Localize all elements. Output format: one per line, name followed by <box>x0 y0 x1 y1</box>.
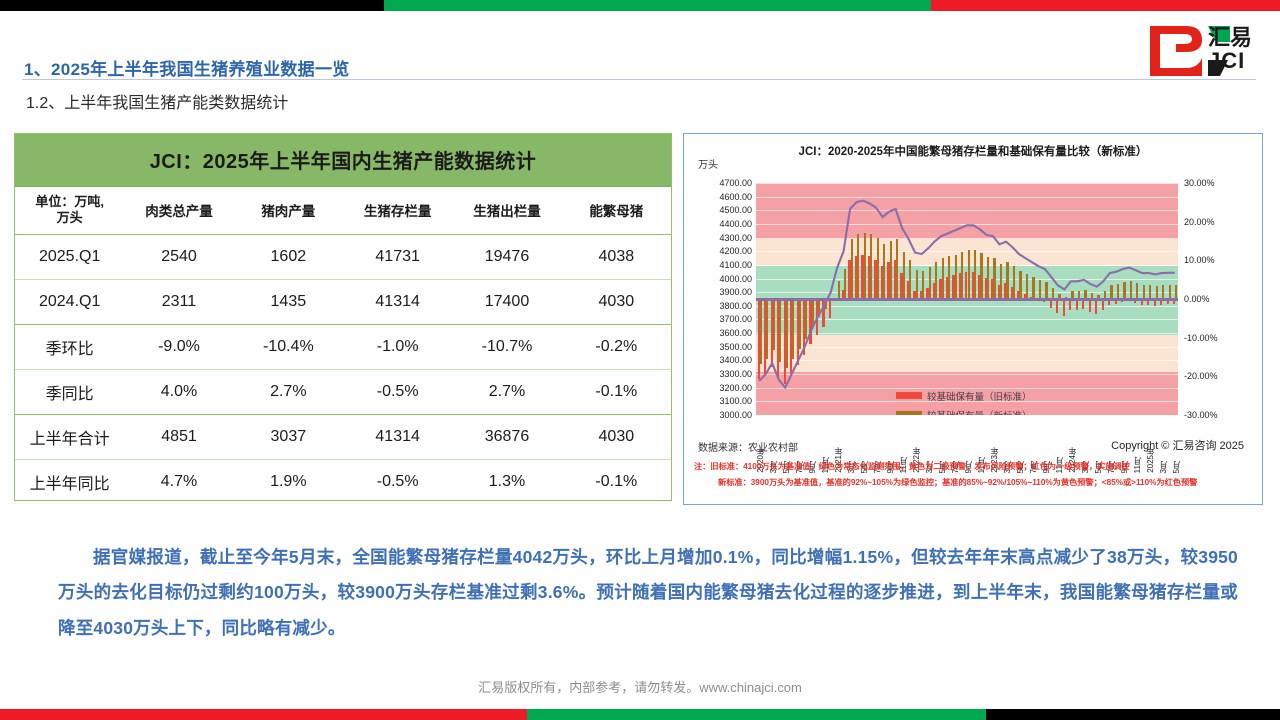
sow-inventory-chart-panel: JCI：2020-2025年中国能繁母猪存栏量和基础保有量比较（新标准） 万头 … <box>683 133 1263 505</box>
cell: 4.7% <box>124 459 233 504</box>
y-axis-tick: 4400.00 <box>719 219 752 229</box>
secondary-y-axis-tick: -30.00% <box>1184 410 1218 420</box>
table-row: 季环比 -9.0% -10.4% -1.0% -10.7% -0.2% <box>15 324 671 369</box>
top-decor-bar <box>0 0 1280 11</box>
table-header-unit: 单位：万吨, 万头 <box>15 186 124 234</box>
cell: 17400 <box>452 279 561 324</box>
y-axis-tick: 3300.00 <box>719 369 752 379</box>
cell: 1435 <box>234 279 343 324</box>
x-axis-tick: 3月 <box>1158 461 1169 473</box>
table-row: 上半年合计 4851 3037 41314 36876 4030 <box>15 414 671 459</box>
decor-segment-green <box>384 0 931 11</box>
row-label: 季环比 <box>15 324 124 369</box>
cell: 41314 <box>343 279 452 324</box>
y-axis-unit-label: 万头 <box>698 156 718 171</box>
cell: 2.7% <box>452 369 561 414</box>
cell: 1.3% <box>452 459 561 504</box>
legend-swatch-icon <box>896 392 922 399</box>
y-axis-tick: 4300.00 <box>719 233 752 243</box>
y-axis-tick: 3400.00 <box>719 355 752 365</box>
table-header-col-4: 生猪出栏量 <box>452 186 561 234</box>
cell: -0.2% <box>562 324 671 369</box>
secondary-y-axis-tick: 30.00% <box>1184 178 1215 188</box>
footer-copyright: 汇易版权所有，内部参考，请勿转发。www.chinajci.com <box>0 677 1280 696</box>
row-label: 季同比 <box>15 369 124 414</box>
cell: -0.5% <box>343 459 452 504</box>
unit-line-1: 单位：万吨, <box>35 194 104 209</box>
cell: 4.0% <box>124 369 233 414</box>
cell: -0.1% <box>562 369 671 414</box>
cell: 41731 <box>343 234 452 279</box>
decor-segment-red <box>0 709 527 720</box>
cell: -10.4% <box>234 324 343 369</box>
cell: 3037 <box>234 414 343 459</box>
y-axis-tick: 3900.00 <box>719 287 752 297</box>
y-axis-tick: 4100.00 <box>719 260 752 270</box>
table-header-col-5: 能繁母猪 <box>562 186 671 234</box>
cell: 2540 <box>124 234 233 279</box>
unit-line-2: 万头 <box>57 210 83 225</box>
baseline-marker <box>756 298 1178 301</box>
table-row: 上半年同比 4.7% 1.9% -0.5% 1.3% -0.1% <box>15 459 671 504</box>
cell: -0.5% <box>343 369 452 414</box>
table-header-col-1: 肉类总产量 <box>124 186 233 234</box>
chart-note-line-2: 新标准：3900万头为基准值，基准的92%~105%为绿色监控；基准的85%~9… <box>718 476 1197 488</box>
table-title-row: JCI：2025年上半年国内生猪产能数据统计 <box>15 134 671 186</box>
table-row: 2025.Q1 2540 1602 41731 19476 4038 <box>15 234 671 279</box>
table-header-row: 单位：万吨, 万头 肉类总产量 猪肉产量 生猪存栏量 生猪出栏量 能繁母猪 <box>15 186 671 234</box>
table-row: 季同比 4.0% 2.7% -0.5% 2.7% -0.1% <box>15 369 671 414</box>
y-axis-tick: 3000.00 <box>719 410 752 420</box>
cell: 4030 <box>562 279 671 324</box>
jci-logo: 汇易 JCI <box>1146 22 1266 80</box>
legend-swatch-icon <box>896 411 922 415</box>
y-axis-tick: 3600.00 <box>719 328 752 338</box>
table-row: 2024.Q1 2311 1435 41314 17400 4030 <box>15 279 671 324</box>
cell: 36876 <box>452 414 561 459</box>
secondary-y-axis-tick: -10.00% <box>1184 333 1218 343</box>
cell: -9.0% <box>124 324 233 369</box>
capacity-data-table: JCI：2025年上半年国内生猪产能数据统计 单位：万吨, 万头 肉类总产量 猪… <box>14 133 672 501</box>
chart-note-line-1: 注：旧标准：4100万头为基准值，绿色为常态化监测范围；黄色为二级预警，发布风险… <box>694 460 1130 472</box>
legend-item-old-standard: 较基础保有量（旧标准） <box>896 386 1081 405</box>
title-divider <box>22 79 1256 80</box>
cell: 4851 <box>124 414 233 459</box>
chart-source: 数据来源：农业农村部 <box>698 439 798 454</box>
table-header-col-3: 生猪存栏量 <box>343 186 452 234</box>
cell: 4030 <box>562 414 671 459</box>
secondary-y-axis-tick: 20.00% <box>1184 217 1215 227</box>
row-label: 上半年合计 <box>15 414 124 459</box>
chart-copyright: Copyright © 汇易咨询 2025 <box>1111 437 1244 453</box>
table-header-col-2: 猪肉产量 <box>234 186 343 234</box>
decor-segment-black <box>0 0 384 11</box>
legend-label: 较基础保有量（新标准） <box>927 408 1032 416</box>
chart-legend: 较基础保有量（旧标准） 较基础保有量（新标准） 能繁母猪存栏 <box>896 386 1081 415</box>
row-label: 2025.Q1 <box>15 234 124 279</box>
y-axis-tick: 3700.00 <box>719 314 752 324</box>
cell: -1.0% <box>343 324 452 369</box>
chart-plot-area: 较基础保有量（旧标准） 较基础保有量（新标准） 能繁母猪存栏 <box>756 183 1178 415</box>
logo-en-text: JCI <box>1208 48 1245 74</box>
secondary-y-axis-tick: 10.00% <box>1184 255 1215 265</box>
y-axis-tick: 4000.00 <box>719 274 752 284</box>
cell: -10.7% <box>452 324 561 369</box>
y-axis-tick: 4700.00 <box>719 178 752 188</box>
table-body: JCI：2025年上半年国内生猪产能数据统计 单位：万吨, 万头 肉类总产量 猪… <box>15 134 671 504</box>
cell: 2.7% <box>234 369 343 414</box>
row-label: 上半年同比 <box>15 459 124 504</box>
page-title: 1、2025年上半年我国生猪养殖业数据一览 <box>24 55 350 80</box>
bottom-decor-bar <box>0 709 1280 720</box>
summary-paragraph: 据官媒报道，截止至今年5月末，全国能繁母猪存栏量4042万头，环比上月增加0.1… <box>58 540 1238 646</box>
cell: 41314 <box>343 414 452 459</box>
x-axis-tick: 5月 <box>1171 461 1182 473</box>
y-axis-tick: 3500.00 <box>719 342 752 352</box>
y-axis-tick: 4500.00 <box>719 205 752 215</box>
y-axis-tick-labels: 4700.004600.004500.004400.004300.004200.… <box>692 177 752 421</box>
cell: 1.9% <box>234 459 343 504</box>
page-subtitle: 1.2、上半年我国生猪产能类数据统计 <box>26 89 288 113</box>
cell: 1602 <box>234 234 343 279</box>
decor-segment-red <box>931 0 1280 11</box>
legend-item-new-standard: 较基础保有量（新标准） <box>896 405 1081 415</box>
decor-segment-green <box>527 709 985 720</box>
cell: 19476 <box>452 234 561 279</box>
secondary-y-axis-tick-labels: 30.00%20.00%10.00%0.00%-10.00%-20.00%-30… <box>1184 177 1246 421</box>
chart-title: JCI：2020-2025年中国能繁母猪存栏量和基础保有量比较（新标准） <box>684 143 1262 159</box>
y-axis-tick: 3100.00 <box>719 396 752 406</box>
x-axis-tick: 11月 <box>1132 457 1143 473</box>
secondary-y-axis-tick: -20.00% <box>1184 371 1218 381</box>
row-label: 2024.Q1 <box>15 279 124 324</box>
secondary-y-axis-tick: 0.00% <box>1184 294 1210 304</box>
cell: -0.1% <box>562 459 671 504</box>
y-axis-tick: 3200.00 <box>719 383 752 393</box>
table-title: JCI：2025年上半年国内生猪产能数据统计 <box>15 134 671 186</box>
cell: 2311 <box>124 279 233 324</box>
decor-segment-black <box>986 709 1280 720</box>
y-axis-tick: 4600.00 <box>719 192 752 202</box>
y-axis-tick: 4200.00 <box>719 246 752 256</box>
y-axis-tick: 3800.00 <box>719 301 752 311</box>
cell: 4038 <box>562 234 671 279</box>
legend-label: 较基础保有量（旧标准） <box>927 389 1032 403</box>
